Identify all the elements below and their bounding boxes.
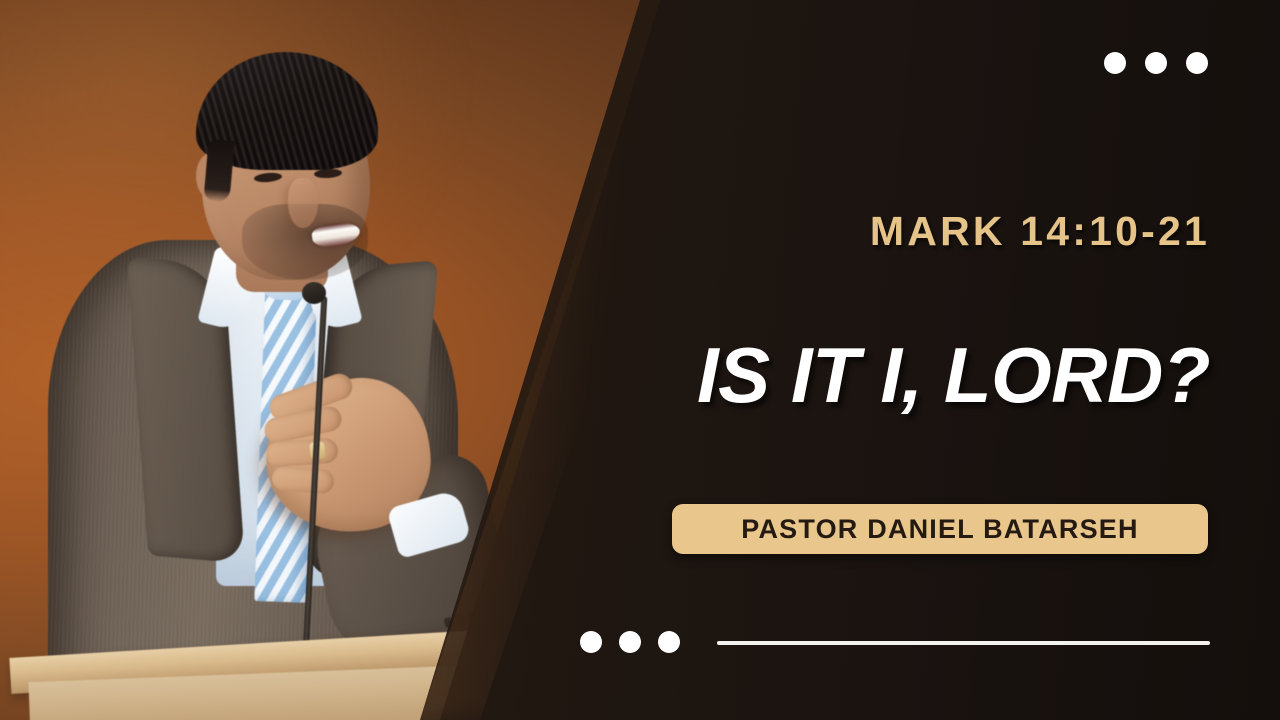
top-dots-decoration bbox=[1104, 52, 1208, 74]
scripture-reference: MARK 14:10-21 bbox=[870, 208, 1210, 255]
dot-icon bbox=[619, 631, 641, 653]
dot-icon bbox=[1186, 52, 1208, 74]
dot-icon bbox=[658, 631, 680, 653]
horizontal-rule-decoration bbox=[717, 641, 1210, 645]
speaker-name-badge: PASTOR DANIEL BATARSEH bbox=[672, 504, 1208, 554]
sermon-title-slide: MARK 14:10-21 IS IT I, LORD? PASTOR DANI… bbox=[0, 0, 1280, 720]
slide-content: MARK 14:10-21 IS IT I, LORD? PASTOR DANI… bbox=[0, 0, 1280, 720]
sermon-title: IS IT I, LORD? bbox=[697, 336, 1210, 414]
dot-icon bbox=[580, 631, 602, 653]
speaker-name-label: PASTOR DANIEL BATARSEH bbox=[741, 514, 1138, 545]
dot-icon bbox=[1145, 52, 1167, 74]
dot-icon bbox=[1104, 52, 1126, 74]
bottom-dots-decoration bbox=[580, 631, 680, 653]
